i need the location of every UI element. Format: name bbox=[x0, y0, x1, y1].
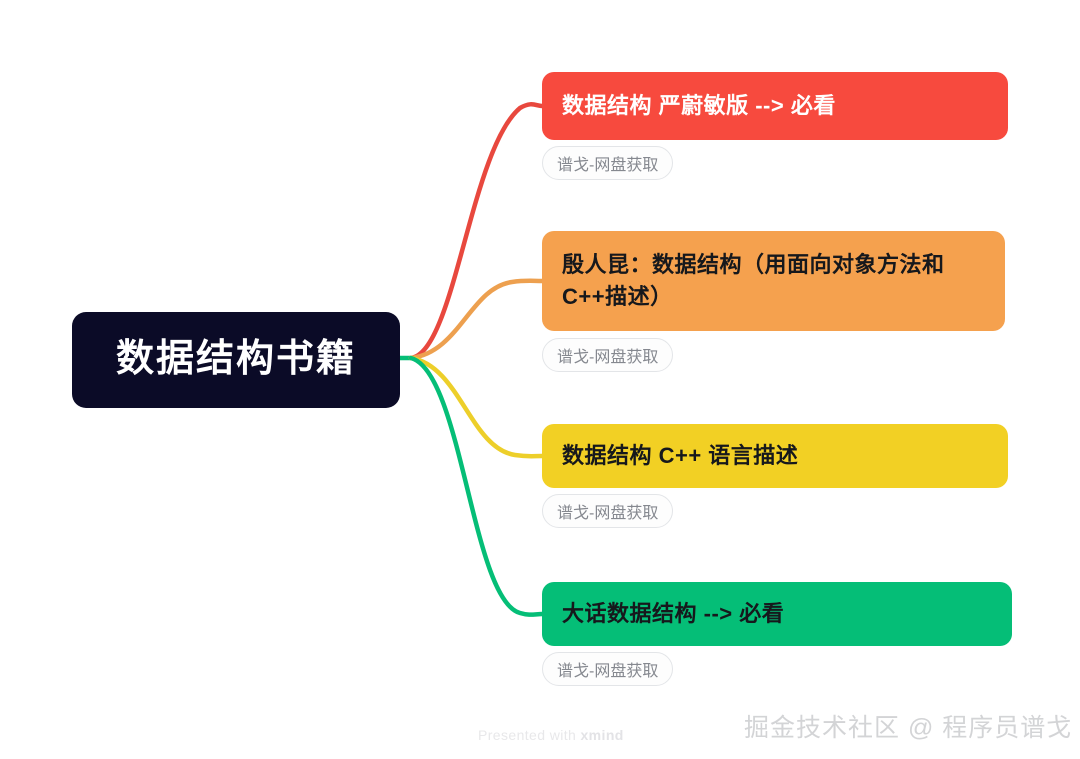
topic-node-4[interactable]: 大话数据结构 --> 必看 bbox=[542, 582, 1012, 646]
topic-node-4-tag-label: 谱戈-网盘获取 bbox=[557, 657, 658, 681]
topic-node-3-tag-label: 谱戈-网盘获取 bbox=[557, 499, 658, 523]
xmind-watermark-brand: xmind bbox=[581, 727, 624, 743]
topic-node-2-label: 殷人昆：数据结构（用面向对象方法和C++描述） bbox=[562, 249, 985, 313]
root-node[interactable]: 数据结构书籍 bbox=[72, 312, 400, 408]
xmind-watermark: Presented with xmind bbox=[478, 727, 624, 743]
topic-node-1-label: 数据结构 严蔚敏版 --> 必看 bbox=[562, 90, 836, 122]
topic-node-1[interactable]: 数据结构 严蔚敏版 --> 必看 bbox=[542, 72, 1008, 140]
topic-node-2-tag-label: 谱戈-网盘获取 bbox=[557, 343, 658, 367]
topic-node-2-tag[interactable]: 谱戈-网盘获取 bbox=[542, 338, 673, 372]
topic-node-1-tag-label: 谱戈-网盘获取 bbox=[557, 151, 658, 175]
topic-node-3-label: 数据结构 C++ 语言描述 bbox=[562, 440, 798, 472]
topic-node-3-tag[interactable]: 谱戈-网盘获取 bbox=[542, 494, 673, 528]
topic-node-2[interactable]: 殷人昆：数据结构（用面向对象方法和C++描述） bbox=[542, 231, 1005, 331]
topic-node-4-tag[interactable]: 谱戈-网盘获取 bbox=[542, 652, 673, 686]
topic-node-3[interactable]: 数据结构 C++ 语言描述 bbox=[542, 424, 1008, 488]
mindmap-canvas: 数据结构书籍 数据结构 严蔚敏版 --> 必看 谱戈-网盘获取 殷人昆：数据结构… bbox=[0, 0, 1080, 759]
topic-node-4-label: 大话数据结构 --> 必看 bbox=[562, 598, 784, 630]
root-node-label: 数据结构书籍 bbox=[116, 339, 356, 381]
author-watermark: 掘金技术社区 @ 程序员谱戈 bbox=[744, 708, 1072, 744]
xmind-watermark-prefix: Presented with bbox=[478, 727, 581, 743]
topic-node-1-tag[interactable]: 谱戈-网盘获取 bbox=[542, 146, 673, 180]
